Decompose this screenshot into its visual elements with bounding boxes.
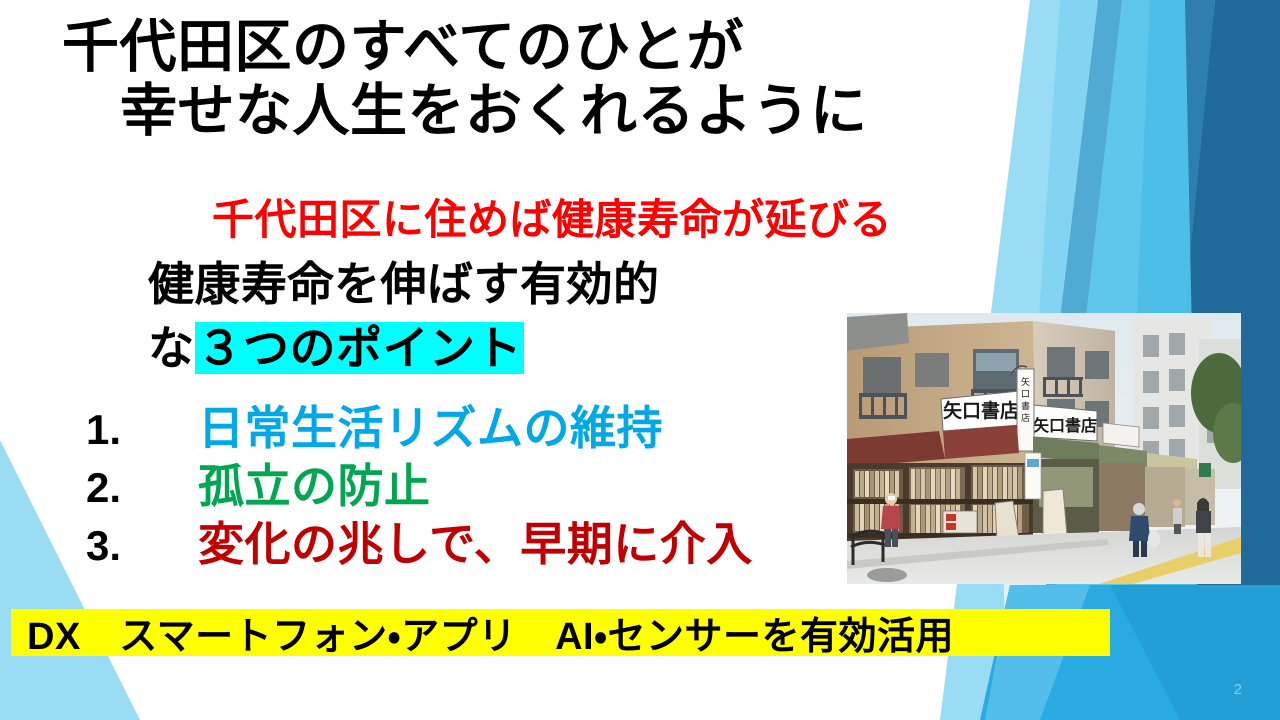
svg-text:書: 書	[1021, 400, 1030, 412]
list-item-number: 2.	[86, 464, 198, 512]
list-item-number: 3.	[86, 522, 198, 570]
slide-number: 2	[1234, 681, 1242, 698]
lead-line-1: 健康寿命を伸ばす有効的	[148, 248, 660, 314]
list-item-number: 1.	[86, 406, 198, 454]
list-item: 3. 変化の兆しで、早期に介入	[86, 508, 886, 566]
footer-banner-text: DX スマートフォン・アプリ AI・センサーを有効活用	[11, 605, 954, 660]
shop-sign-right: 矢口書店	[1033, 405, 1097, 441]
title-line-1: 千代田区のすべてのひとが	[62, 16, 1002, 80]
person-white	[1196, 498, 1211, 557]
svg-text:店: 店	[1021, 413, 1030, 424]
list-item-label: 孤立の防止	[198, 450, 431, 516]
svg-text:矢口書店: 矢口書店	[1033, 416, 1097, 435]
svg-text:口: 口	[1021, 390, 1030, 400]
lead-line-2-prefix: な	[148, 322, 195, 374]
footer-banner: DX スマートフォン・アプリ AI・センサーを有効活用	[11, 609, 1110, 656]
deco-shape-bottom-mid	[1110, 585, 1280, 720]
lead-line-2-highlight: ３つのポイント	[195, 322, 525, 374]
list-item: 2. 孤立の防止	[86, 450, 886, 508]
person-far	[1173, 499, 1182, 534]
page-title: 千代田区のすべてのひとが 幸せな人生をおくれるように	[62, 16, 1002, 144]
list-item: 1. 日常生活リズムの維持	[86, 392, 886, 450]
svg-text:矢: 矢	[1021, 376, 1030, 388]
svg-text:矢口書店: 矢口書店	[943, 399, 1019, 422]
subtitle-red: 千代田区に住めば健康寿命が延びる	[212, 186, 892, 247]
slide-canvas: 千代田区のすべてのひとが 幸せな人生をおくれるように 千代田区に住めば健康寿命が…	[0, 0, 1280, 720]
lead-line-2: な３つのポイント	[148, 312, 524, 378]
bookstore-street-photo: 矢口書店 矢口書店 矢 口 書 店	[847, 313, 1241, 584]
title-line-2: 幸せな人生をおくれるように	[62, 80, 1002, 144]
list-item-label: 変化の兆しで、早期に介入	[198, 508, 753, 574]
list-item-label: 日常生活リズムの維持	[198, 392, 663, 458]
points-list: 1. 日常生活リズムの維持 2. 孤立の防止 3. 変化の兆しで、早期に介入	[86, 392, 886, 566]
